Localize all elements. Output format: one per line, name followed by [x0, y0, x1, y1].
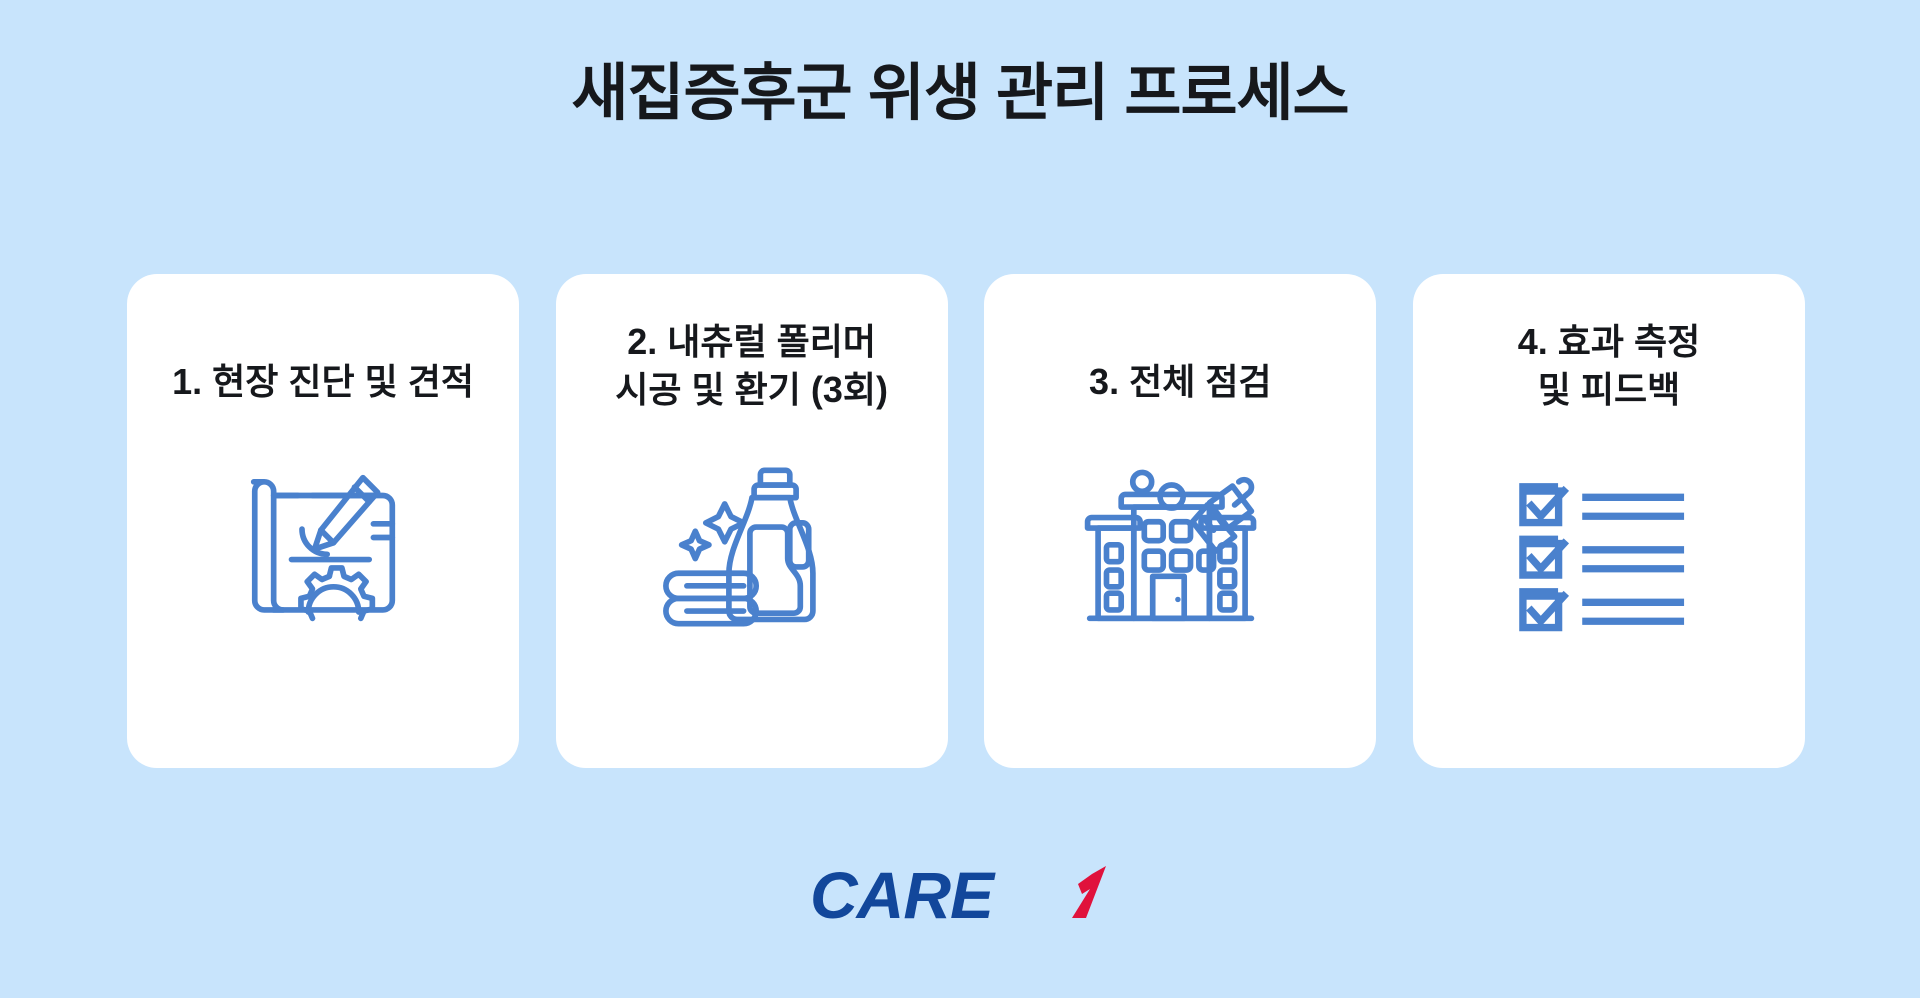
process-step-card-4[interactable]: 4. 효과 측정 및 피드백	[1413, 274, 1805, 768]
infographic-slide: 새집증후군 위생 관리 프로세스 1. 현장 진단 및 견적	[0, 0, 1920, 998]
step-2-label: 2. 내츄럴 폴리머 시공 및 환기 (3회)	[556, 318, 948, 413]
process-step-card-2[interactable]: 2. 내츄럴 폴리머 시공 및 환기 (3회)	[556, 274, 948, 768]
care1-logo: CARE	[0, 862, 1920, 934]
step-3-label: 3. 전체 점검	[984, 358, 1376, 406]
process-step-card-1[interactable]: 1. 현장 진단 및 견적	[127, 274, 519, 768]
detergent-bottle-towels-icon	[647, 457, 857, 637]
logo-wordmark: CARE	[810, 862, 996, 932]
checklist-icon	[1504, 463, 1714, 643]
process-steps-row: 1. 현장 진단 및 견적	[127, 274, 1805, 774]
process-step-card-3[interactable]: 3. 전체 점검	[984, 274, 1376, 768]
blueprint-pencil-gear-icon	[218, 458, 428, 638]
building-broom-icon	[1075, 458, 1285, 638]
page-title: 새집증후군 위생 관리 프로세스	[0, 58, 1920, 129]
step-1-label: 1. 현장 진단 및 견적	[127, 358, 519, 406]
step-4-label: 4. 효과 측정 및 피드백	[1413, 318, 1805, 413]
